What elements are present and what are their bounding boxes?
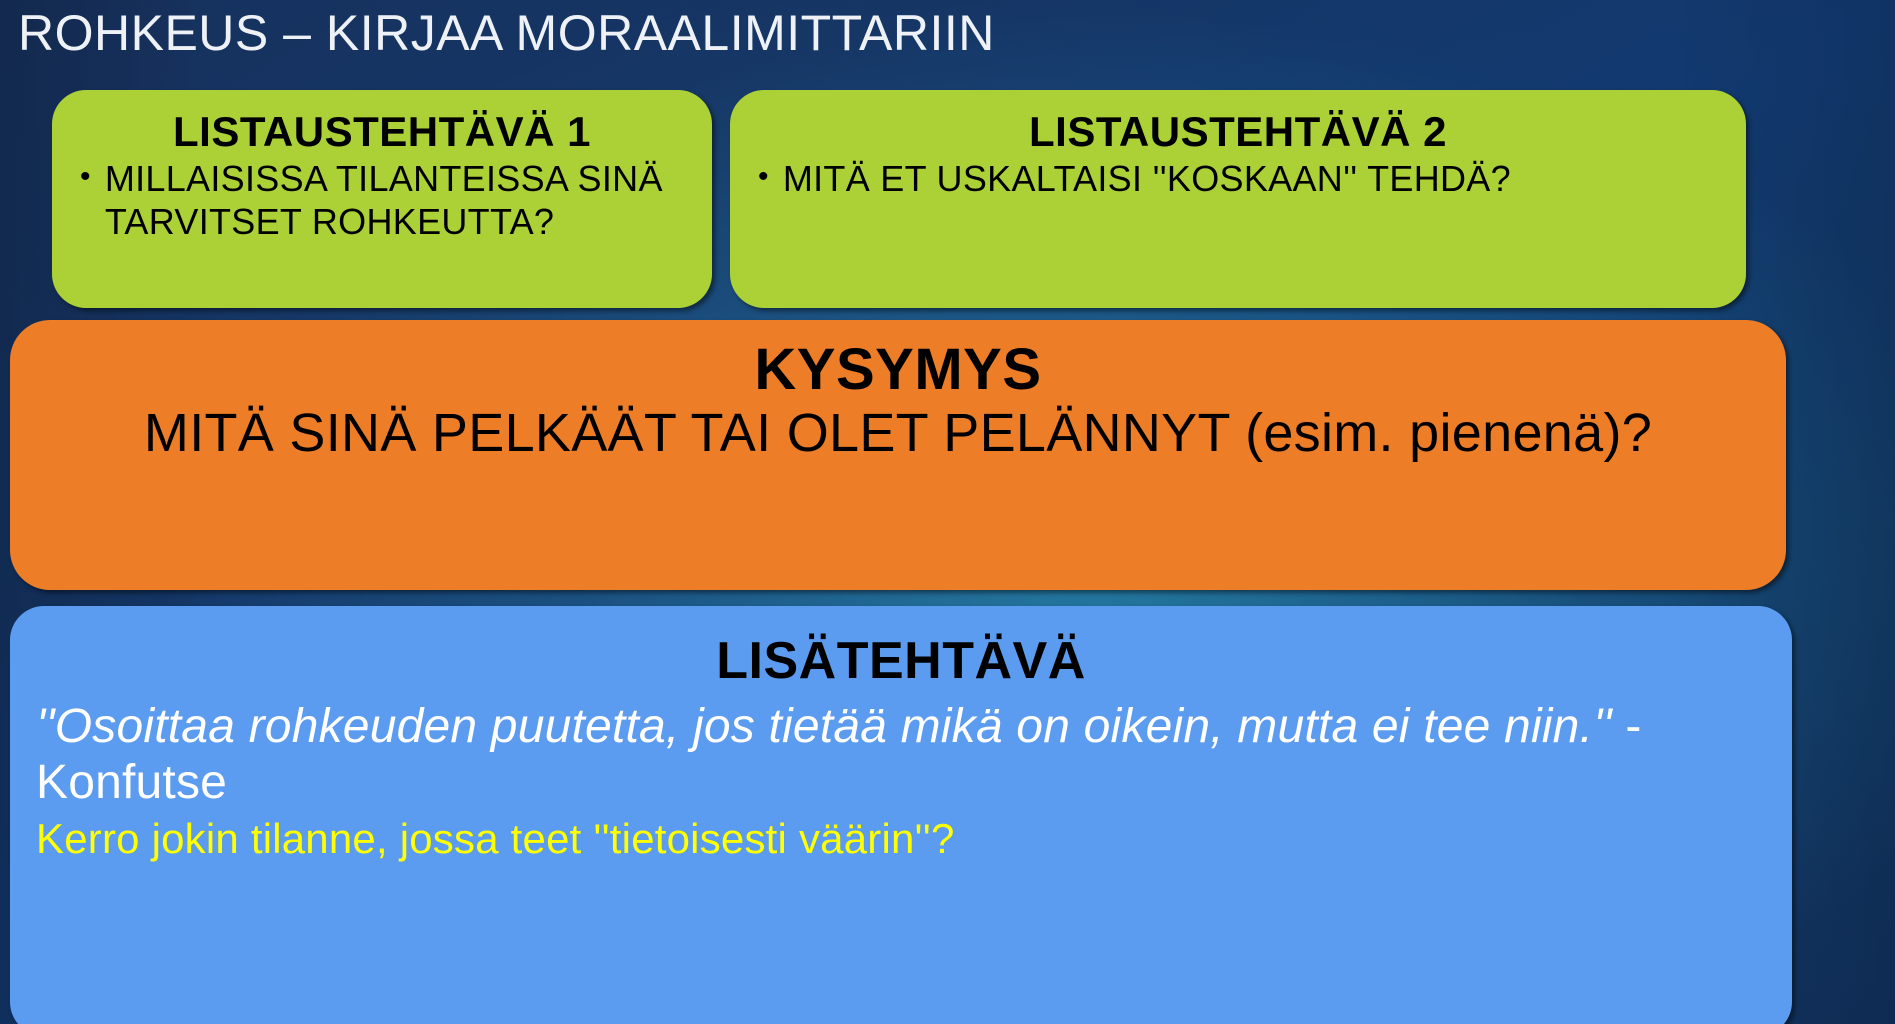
bullet-item: • MILLAISISSA TILANTEISSA SINÄ TARVITSET… [74, 158, 690, 243]
bullet-text: MILLAISISSA TILANTEISSA SINÄ TARVITSET R… [105, 158, 690, 243]
bullet-icon: • [752, 158, 769, 196]
bullet-item: • MITÄ ET USKALTAISI ''KOSKAAN'' TEHDÄ? [752, 158, 1724, 200]
presentation-slide: ROHKEUS – KIRJAA MORAALIMITTARIIN LISTAU… [0, 0, 1895, 1024]
extra-task-text: Kerro jokin tilanne, jossa teet ''tietoi… [36, 814, 1766, 864]
card-heading-listaustehtava-2: LISTAUSTEHTÄVÄ 2 [752, 110, 1724, 154]
card-heading-kysymys: KYSYMYS [36, 340, 1760, 401]
card-kysymys: KYSYMYS MITÄ SINÄ PELKÄÄT TAI OLET PELÄN… [10, 320, 1786, 590]
slide-title: ROHKEUS – KIRJAA MORAALIMITTARIIN [18, 6, 1718, 61]
card-listaustehtava-2: LISTAUSTEHTÄVÄ 2 • MITÄ ET USKALTAISI ''… [730, 90, 1746, 308]
card-lisatehtava: LISÄTEHTÄVÄ ''Osoittaa rohkeuden puutett… [10, 606, 1792, 1024]
quote-text: ''Osoittaa rohkeuden puutetta, jos tietä… [36, 700, 1612, 753]
bullet-text: MITÄ ET USKALTAISI ''KOSKAAN'' TEHDÄ? [783, 158, 1724, 200]
card-body-kysymys: MITÄ SINÄ PELKÄÄT TAI OLET PELÄNNYT (esi… [36, 403, 1760, 463]
card-listaustehtava-1: LISTAUSTEHTÄVÄ 1 • MILLAISISSA TILANTEIS… [52, 90, 712, 308]
bullet-icon: • [74, 158, 91, 196]
card-heading-lisatehtava: LISÄTEHTÄVÄ [36, 634, 1766, 689]
confucius-quote: ''Osoittaa rohkeuden puutetta, jos tietä… [36, 699, 1766, 812]
card-heading-listaustehtava-1: LISTAUSTEHTÄVÄ 1 [74, 110, 690, 154]
